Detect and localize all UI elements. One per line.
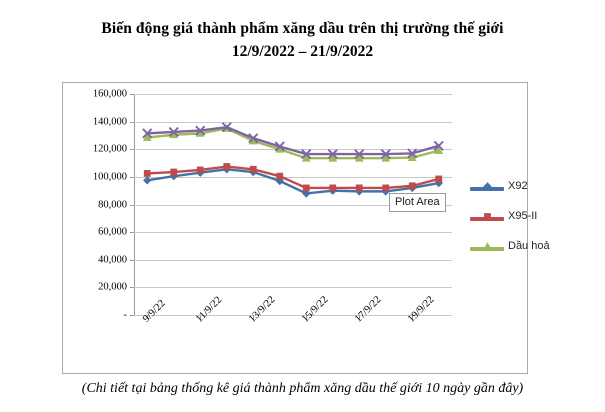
data-point-marker <box>435 176 442 183</box>
data-point-marker <box>484 213 491 220</box>
y-axis-labels: 160,000140,000120,000100,00080,00060,000… <box>63 83 133 375</box>
chart-screenshot: Biến động giá thành phẩm xăng dầu trên t… <box>0 0 605 412</box>
chart-legend[interactable]: X92X95-IIDầu hoả <box>470 178 595 268</box>
y-axis-tick-label: 100,000 <box>63 171 127 182</box>
y-axis-tick-label: 40,000 <box>63 254 127 265</box>
y-axis-tick-label: 160,000 <box>63 89 127 100</box>
legend-item-x95-ii[interactable]: X95-II <box>470 208 595 238</box>
legend-item-dầu-hoả[interactable]: Dầu hoả <box>470 238 595 268</box>
legend-item-x92[interactable]: X92 <box>470 178 595 208</box>
chart-title-line2: 12/9/2022 – 21/9/2022 <box>0 40 605 64</box>
data-point-marker <box>382 185 389 192</box>
legend-item-label: Dầu hoả <box>508 240 592 253</box>
legend-item-label: X92 <box>508 180 592 193</box>
data-point-marker <box>144 170 151 177</box>
chart-area[interactable]: 160,000140,000120,000100,00080,00060,000… <box>62 82 528 374</box>
data-point-marker <box>483 182 491 190</box>
y-axis-tick-label: 60,000 <box>63 227 127 238</box>
legend-marker-icon <box>483 182 492 191</box>
legend-item-label: X95-II <box>508 210 592 223</box>
legend-marker-icon <box>483 212 492 221</box>
series-dầu-hoả <box>143 124 443 161</box>
data-point-marker <box>303 185 310 192</box>
y-gridline <box>134 315 452 316</box>
data-point-marker <box>483 242 492 250</box>
data-point-marker <box>329 185 336 192</box>
x-axis-labels: 9/9/2211/9/2213/9/2215/9/2217/9/2219/9/2… <box>134 317 464 387</box>
series-line <box>147 167 439 188</box>
data-point-marker <box>143 176 151 184</box>
data-point-marker <box>197 167 204 174</box>
data-point-marker <box>356 185 363 192</box>
plot-area-tooltip: Plot Area <box>389 193 446 212</box>
data-point-marker <box>223 163 230 170</box>
y-axis-tick-label: 80,000 <box>63 199 127 210</box>
data-point-marker <box>250 166 257 173</box>
y-axis-tick-label: 140,000 <box>63 116 127 127</box>
chart-caption: (Chi tiết tại bảng thống kê giá thành ph… <box>0 381 605 397</box>
data-point-marker <box>409 182 416 189</box>
chart-title-line1: Biến động giá thành phẩm xăng dầu trên t… <box>0 18 605 40</box>
series-line <box>147 127 439 154</box>
legend-marker-icon <box>483 242 492 251</box>
y-axis-tick-label: - <box>63 310 127 321</box>
chart-title: Biến động giá thành phẩm xăng dầu trên t… <box>0 18 605 64</box>
y-axis-tick <box>130 315 134 316</box>
y-axis-tick-label: 120,000 <box>63 144 127 155</box>
data-point-marker <box>170 169 177 176</box>
data-point-marker <box>276 173 283 180</box>
y-axis-tick-label: 20,000 <box>63 282 127 293</box>
